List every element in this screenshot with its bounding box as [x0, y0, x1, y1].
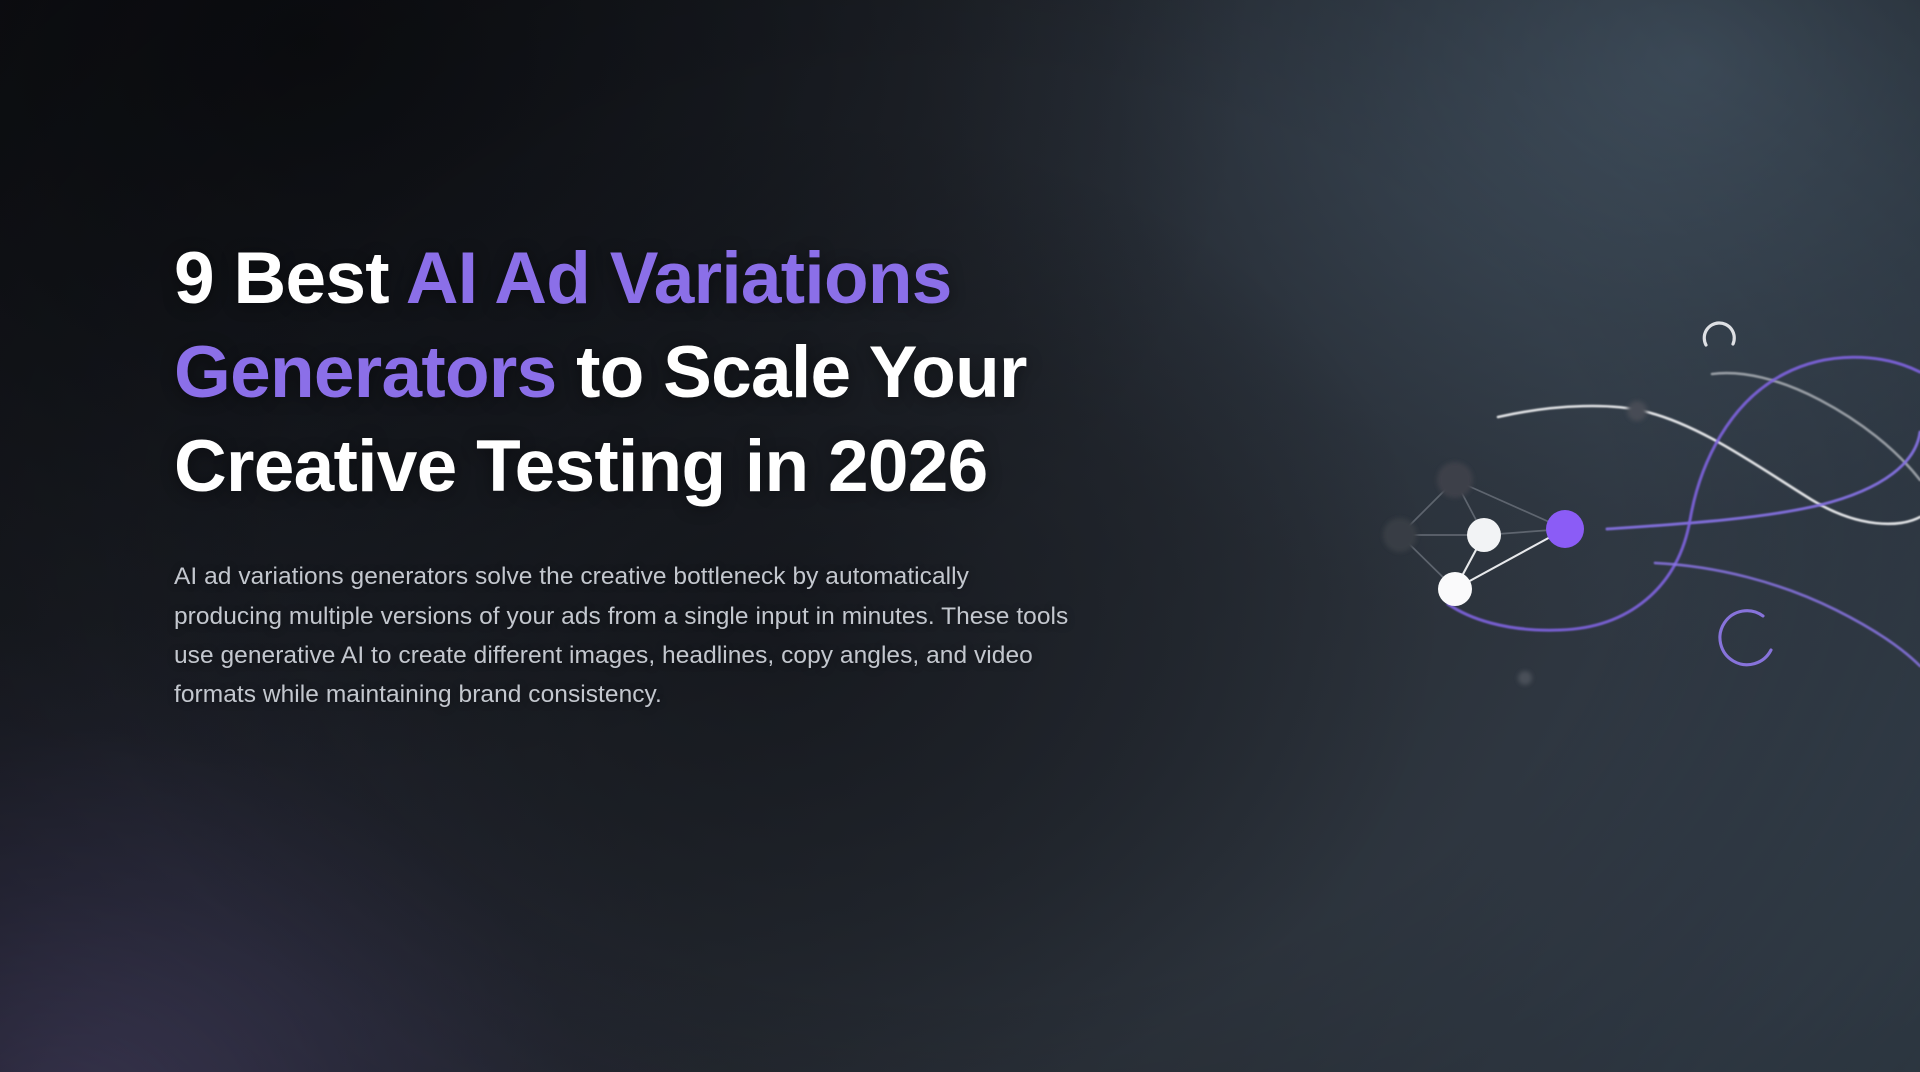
- curve-purple-long-icon: [1655, 563, 1920, 666]
- node-gray-left-icon: [1383, 518, 1417, 552]
- node-dot-small-icon: [1518, 671, 1532, 685]
- curve-purple-loop-icon: [1607, 432, 1920, 529]
- curve-white-flow-tail-icon: [1712, 373, 1920, 480]
- hero-subcopy: AI ad variations generators solve the cr…: [174, 513, 1074, 714]
- page-title: 9 Best AI Ad Variations Generators to Sc…: [174, 232, 1294, 513]
- node-dot-faint-icon: [1627, 401, 1647, 421]
- node-white-lower-icon: [1438, 572, 1472, 606]
- hero-banner: 9 Best AI Ad Variations Generators to Sc…: [0, 0, 1920, 1072]
- ring-purple-arc-icon: [1720, 611, 1771, 665]
- curve-white-flow-icon: [1498, 406, 1920, 524]
- hero-content: 9 Best AI Ad Variations Generators to Sc…: [174, 232, 1294, 714]
- node-gray-top-icon: [1437, 462, 1473, 498]
- curve-purple-descend-icon: [1448, 357, 1920, 630]
- headline-segment-lead: 9 Best: [174, 238, 406, 319]
- network-edges-bright: [1455, 529, 1565, 589]
- network-edges: [1400, 480, 1565, 589]
- node-purple-icon: [1546, 510, 1584, 548]
- node-white-mid-icon: [1467, 518, 1501, 552]
- ring-white-arc-icon: [1704, 323, 1734, 345]
